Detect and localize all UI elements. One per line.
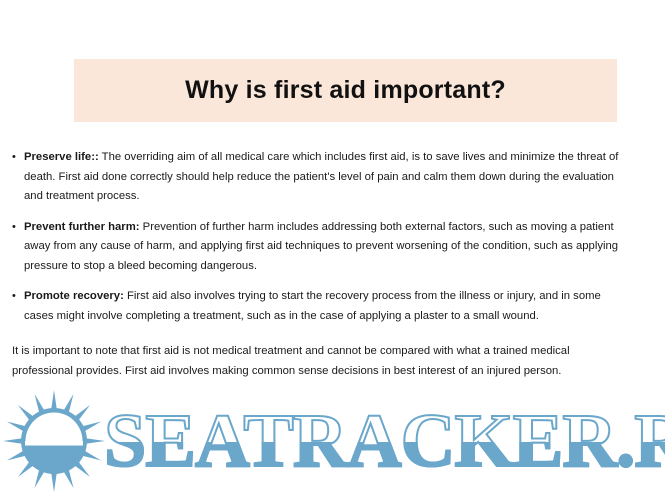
bullet-body: The overriding aim of all medical care w… [24,151,618,202]
bullet-text: Promote recovery: First aid also involve… [24,287,625,326]
list-item: • Preserve life:: The overriding aim of … [0,148,665,207]
page-title: Why is first aid important? [185,77,506,105]
bullet-text: Preserve life:: The overriding aim of al… [24,148,625,207]
list-item: • Prevent further harm: Prevention of fu… [0,218,665,277]
closing-paragraph: It is important to note that first aid i… [12,342,612,381]
bullet-lead: Preserve life:: [24,151,99,163]
bullet-marker: • [0,148,24,168]
sun-icon [2,389,106,493]
bullet-marker: • [0,287,24,307]
bullet-lead: Prevent further harm: [24,221,140,233]
bullet-text: Prevent further harm: Prevention of furt… [24,218,625,277]
content-body: • Preserve life:: The overriding aim of … [0,148,665,381]
bullet-marker: • [0,218,24,238]
title-banner: Why is first aid important? [74,59,617,122]
bullet-lead: Promote recovery: [24,290,124,302]
watermark-text: SEATRACKER.RU SEATRACKER.RU [104,403,665,479]
watermark: SEATRACKER.RU SEATRACKER.RU [0,388,665,493]
list-item: • Promote recovery: First aid also invol… [0,287,665,326]
